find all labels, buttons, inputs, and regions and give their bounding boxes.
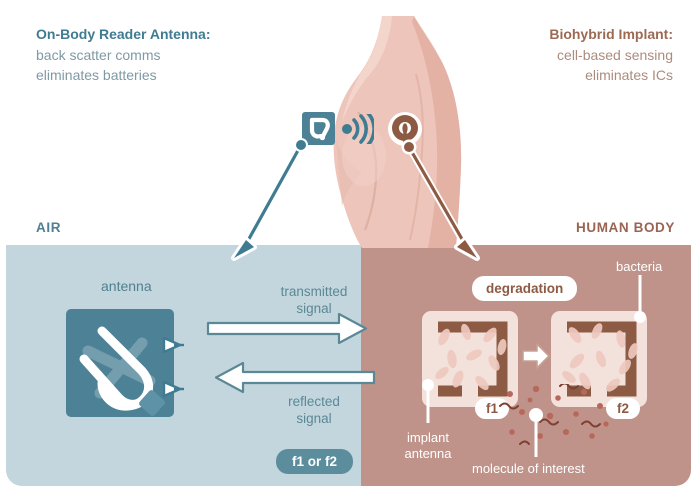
degradation-pill: degradation	[472, 276, 577, 301]
signal-arrows	[206, 306, 376, 396]
antenna-caption: antenna	[101, 278, 152, 294]
reader-antenna-blurb: On-Body Reader Antenna: back scatter com…	[36, 24, 211, 85]
biohybrid-implant-blurb-line1: cell-based sensing	[549, 45, 673, 65]
bacteria-label: bacteria	[616, 259, 662, 275]
biohybrid-implant-blurb-line2: eliminates ICs	[549, 65, 673, 85]
frequency-pill: f1 or f2	[276, 449, 353, 474]
reader-antenna-icon	[302, 112, 335, 145]
transmitted-signal-arrow	[208, 314, 366, 343]
transmitted-signal-line1: transmitted	[254, 283, 374, 300]
biohybrid-implant-blurb-heading: Biohybrid Implant:	[549, 24, 673, 44]
wifi-broadcast-icon	[340, 114, 374, 144]
molecule-of-interest-label: molecule of interest	[472, 461, 585, 477]
implant-antenna-label-line1: implant	[389, 430, 467, 446]
reflected-signal-arrow	[216, 363, 374, 392]
biohybrid-implant-blurb: Biohybrid Implant: cell-based sensing el…	[549, 24, 673, 85]
reader-antenna-blurb-line1: back scatter comms	[36, 45, 211, 65]
diagram-frame: On-Body Reader Antenna: back scatter com…	[6, 6, 691, 486]
diagram-root: On-Body Reader Antenna: back scatter com…	[0, 0, 697, 492]
teal-connector	[234, 138, 308, 258]
reader-antenna-illustration	[66, 309, 190, 431]
degradation-arrow	[522, 343, 550, 369]
reflected-signal-label: reflected signal	[254, 393, 374, 427]
reader-antenna-blurb-heading: On-Body Reader Antenna:	[36, 24, 211, 44]
implant-antenna-label-line2: antenna	[389, 446, 467, 462]
air-section-label: AIR	[36, 220, 61, 235]
implant-marker-icon	[386, 110, 424, 148]
implant-antenna-label: implant antenna	[389, 430, 467, 462]
molecule-cloud	[496, 384, 616, 454]
reader-antenna-blurb-line2: eliminates batteries	[36, 65, 211, 85]
human-body-section-label: HUMAN BODY	[576, 220, 675, 235]
reflected-signal-line2: signal	[254, 410, 374, 427]
